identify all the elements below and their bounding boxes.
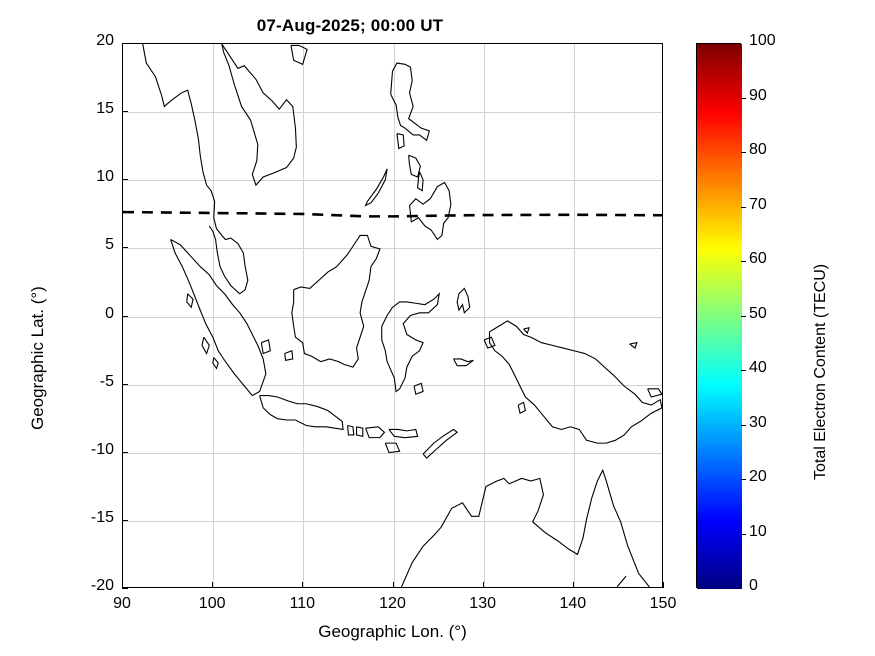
colorbar-tick <box>741 207 746 208</box>
x-tick <box>393 582 394 588</box>
colorbar-tick <box>741 261 746 262</box>
geomagnetic-equator-path <box>123 212 662 216</box>
x-tick <box>573 582 574 588</box>
colorbar-tick <box>741 316 746 317</box>
colorbar <box>696 43 741 588</box>
colorbar-tick-label: 60 <box>749 250 767 268</box>
y-tick-label: 10 <box>58 168 114 186</box>
x-tick-label: 90 <box>92 595 152 613</box>
y-tick <box>122 588 128 589</box>
colorbar-tick <box>741 425 746 426</box>
y-tick-label: -10 <box>58 441 114 459</box>
y-tick-label: -20 <box>58 577 114 595</box>
x-tick-label: 100 <box>182 595 242 613</box>
colorbar-tick-label: 30 <box>749 414 767 432</box>
tec-map-figure: 07-Aug-2025; 00:00 UT 901001101201301401… <box>0 0 875 656</box>
x-tick <box>212 582 213 588</box>
colorbar-tick <box>741 534 746 535</box>
colorbar-tick <box>741 370 746 371</box>
colorbar-tick-label: 80 <box>749 141 767 159</box>
y-tick <box>122 384 128 385</box>
colorbar-tick-label: 10 <box>749 523 767 541</box>
x-axis-title: Geographic Lon. (°) <box>122 622 663 642</box>
y-tick-label: 0 <box>58 305 114 323</box>
y-tick <box>122 179 128 180</box>
y-tick-label: 20 <box>58 32 114 50</box>
x-tick-label: 150 <box>633 595 693 613</box>
colorbar-tick <box>741 98 746 99</box>
y-axis-title: Geographic Lat. (°) <box>28 286 48 430</box>
colorbar-tick-label: 90 <box>749 87 767 105</box>
y-tick-label: -15 <box>58 509 114 527</box>
colorbar-tick-label: 20 <box>749 468 767 486</box>
x-tick <box>302 582 303 588</box>
y-tick <box>122 520 128 521</box>
x-tick-label: 110 <box>272 595 332 613</box>
colorbar-tick <box>741 479 746 480</box>
x-tick-label: 120 <box>363 595 423 613</box>
colorbar-tick-label: 40 <box>749 359 767 377</box>
x-tick <box>483 582 484 588</box>
y-tick-label: -5 <box>58 373 114 391</box>
y-tick <box>122 43 128 44</box>
colorbar-tick-label: 100 <box>749 32 776 50</box>
colorbar-title: Total Electron Content (TECU) <box>812 264 830 480</box>
y-tick-label: 5 <box>58 236 114 254</box>
y-tick <box>122 111 128 112</box>
colorbar-tick-label: 50 <box>749 305 767 323</box>
x-tick <box>663 582 664 588</box>
colorbar-tick <box>741 152 746 153</box>
map-axes <box>122 43 663 588</box>
colorbar-tick-label: 70 <box>749 196 767 214</box>
y-tick <box>122 316 128 317</box>
colorbar-gradient <box>697 44 742 589</box>
y-tick <box>122 247 128 248</box>
x-tick-label: 130 <box>453 595 513 613</box>
y-tick-label: 15 <box>58 100 114 118</box>
y-tick <box>122 452 128 453</box>
x-tick-label: 140 <box>543 595 603 613</box>
colorbar-tick-label: 0 <box>749 577 758 595</box>
geomagnetic-equator-line <box>123 44 662 587</box>
